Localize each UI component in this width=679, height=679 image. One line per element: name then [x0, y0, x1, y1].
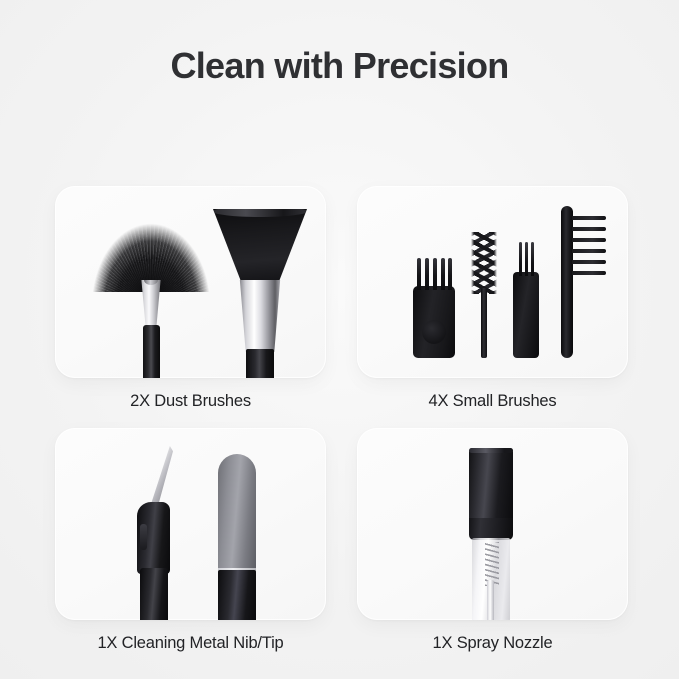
card-cell-spray-nozzle: 1X Spray Nozzle: [357, 428, 628, 653]
card-caption-dust-brushes: 2X Dust Brushes: [55, 391, 326, 411]
product-card-spray-nozzle[interactable]: [357, 428, 628, 620]
fan-brush-handle: [143, 325, 160, 378]
flat-brush-ferrule: [239, 280, 281, 352]
spray-nozzle-illustration: [357, 428, 628, 620]
fan-brush-ferrule: [139, 280, 163, 328]
toothbrush-bristle-row: [572, 216, 606, 220]
spray-nozzle-dip-tube: [487, 580, 494, 620]
flat-narrow-brush-tuft: [531, 242, 534, 276]
card-caption-metal-nib: 1X Cleaning Metal Nib/Tip: [55, 633, 326, 653]
spray-nozzle-bottle-icon: [461, 434, 525, 620]
toothbrush-bristle-row: [572, 260, 606, 264]
fan-brush-bristles: [91, 210, 211, 292]
spray-nozzle-collar: [469, 518, 513, 540]
block-brush-tuft: [425, 258, 429, 290]
small-brushes-illustration: [357, 186, 628, 378]
toothbrush-bristle-row: [572, 271, 606, 275]
block-brush-tuft: [433, 258, 437, 290]
toothbrush-bristle-row: [572, 227, 606, 231]
card-caption-small-brushes: 4X Small Brushes: [357, 391, 628, 411]
block-bristle-brush-icon: [413, 248, 455, 358]
product-card-metal-nib[interactable]: [55, 428, 326, 620]
tip-tool-body: [218, 570, 256, 620]
flat-brush-handle: [246, 349, 274, 378]
toothbrush-bristle-row: [572, 238, 606, 242]
infographic-page: Clean with Precision: [0, 0, 679, 679]
toothbrush-bristle-row: [572, 249, 606, 253]
card-row-top: 2X Dust Brushes: [0, 186, 679, 428]
product-card-grid: 2X Dust Brushes: [0, 186, 679, 670]
metal-nib-illustration: [55, 428, 326, 620]
metal-nib-tool-icon: [127, 440, 187, 620]
product-card-small-brushes[interactable]: [357, 186, 628, 378]
flat-narrow-brush-tuft: [525, 242, 528, 276]
card-cell-metal-nib: 1X Cleaning Metal Nib/Tip: [55, 428, 326, 653]
card-caption-spray-nozzle: 1X Spray Nozzle: [357, 633, 628, 653]
flat-top-dust-brush-icon: [205, 192, 315, 378]
card-cell-small-brushes: 4X Small Brushes: [357, 186, 628, 411]
flat-brush-bristles: [213, 206, 307, 282]
flat-narrow-brush-body: [513, 272, 539, 358]
spiral-coil-brush-icon: [469, 232, 499, 358]
dust-brushes-illustration: [55, 186, 326, 378]
toothbrush-style-brush-icon: [561, 206, 613, 358]
spiral-brush-coil: [471, 232, 497, 294]
flat-narrow-brush-tuft: [519, 242, 522, 276]
fan-dust-brush-icon: [91, 192, 211, 378]
block-brush-body: [413, 286, 455, 358]
block-brush-tuft: [417, 258, 421, 290]
card-row-bottom: 1X Cleaning Metal Nib/Tip 1X Spray: [0, 428, 679, 670]
tip-tool-cap: [218, 454, 256, 572]
metal-nib-grip: [137, 502, 170, 574]
metal-nib-shaft: [140, 568, 168, 620]
spray-nozzle-cap: [469, 448, 513, 524]
product-card-dust-brushes[interactable]: [55, 186, 326, 378]
card-cell-dust-brushes: 2X Dust Brushes: [55, 186, 326, 411]
block-brush-tuft: [448, 258, 452, 290]
flat-narrow-brush-icon: [513, 226, 539, 358]
block-brush-tuft: [441, 258, 445, 290]
spiral-brush-stem: [481, 288, 487, 358]
capped-tip-tool-icon: [215, 440, 259, 620]
page-title: Clean with Precision: [0, 44, 679, 88]
